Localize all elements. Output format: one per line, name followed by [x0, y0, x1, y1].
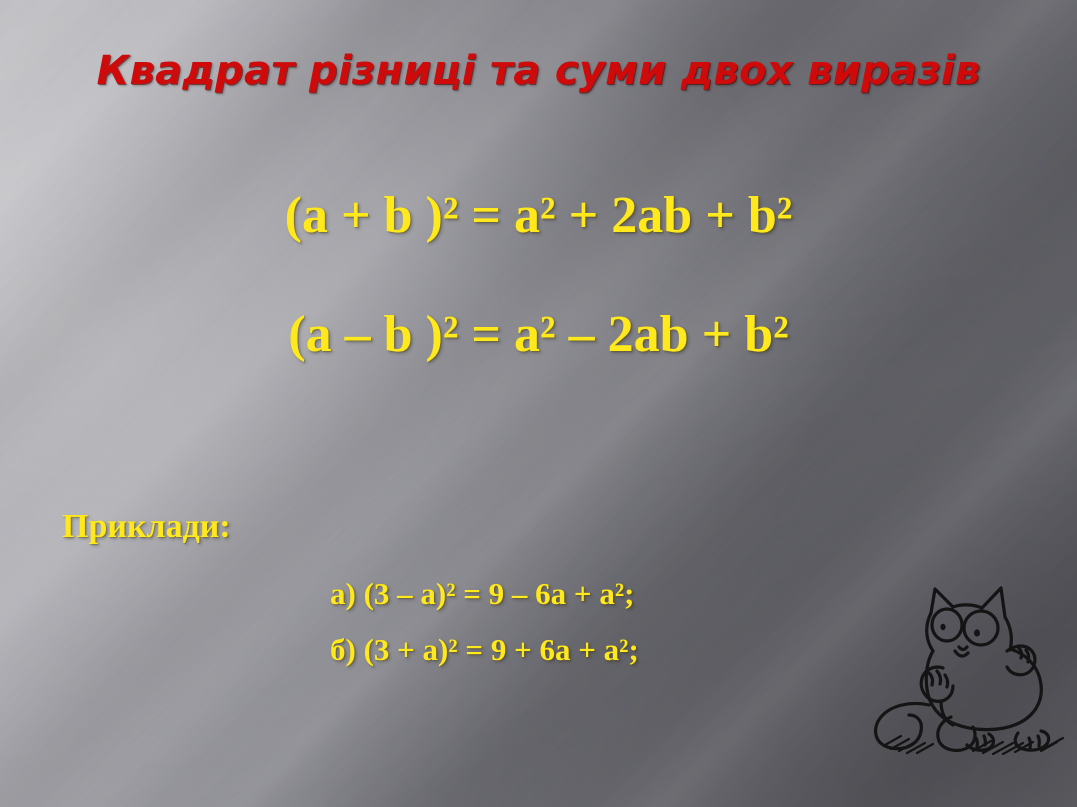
examples-heading: Приклади: [62, 508, 231, 546]
slide-content: Квадрат різниці та суми двох виразів (a … [0, 0, 1077, 807]
cartoon-cat-icon [855, 555, 1070, 755]
presentation-slide: Квадрат різниці та суми двох виразів (a … [0, 0, 1077, 807]
example-item-b: б) (3 + а)² = 9 + 6а + а²; [330, 632, 639, 668]
slide-title: Квадрат різниці та суми двох виразів [0, 48, 1077, 94]
formula-square-of-difference: (a – b )² = a² – 2ab + b² [0, 305, 1077, 364]
formula-square-of-sum: (a + b )² = a² + 2ab + b² [0, 186, 1077, 245]
example-item-a: а) (3 – а)² = 9 – 6а + а²; [330, 576, 634, 612]
